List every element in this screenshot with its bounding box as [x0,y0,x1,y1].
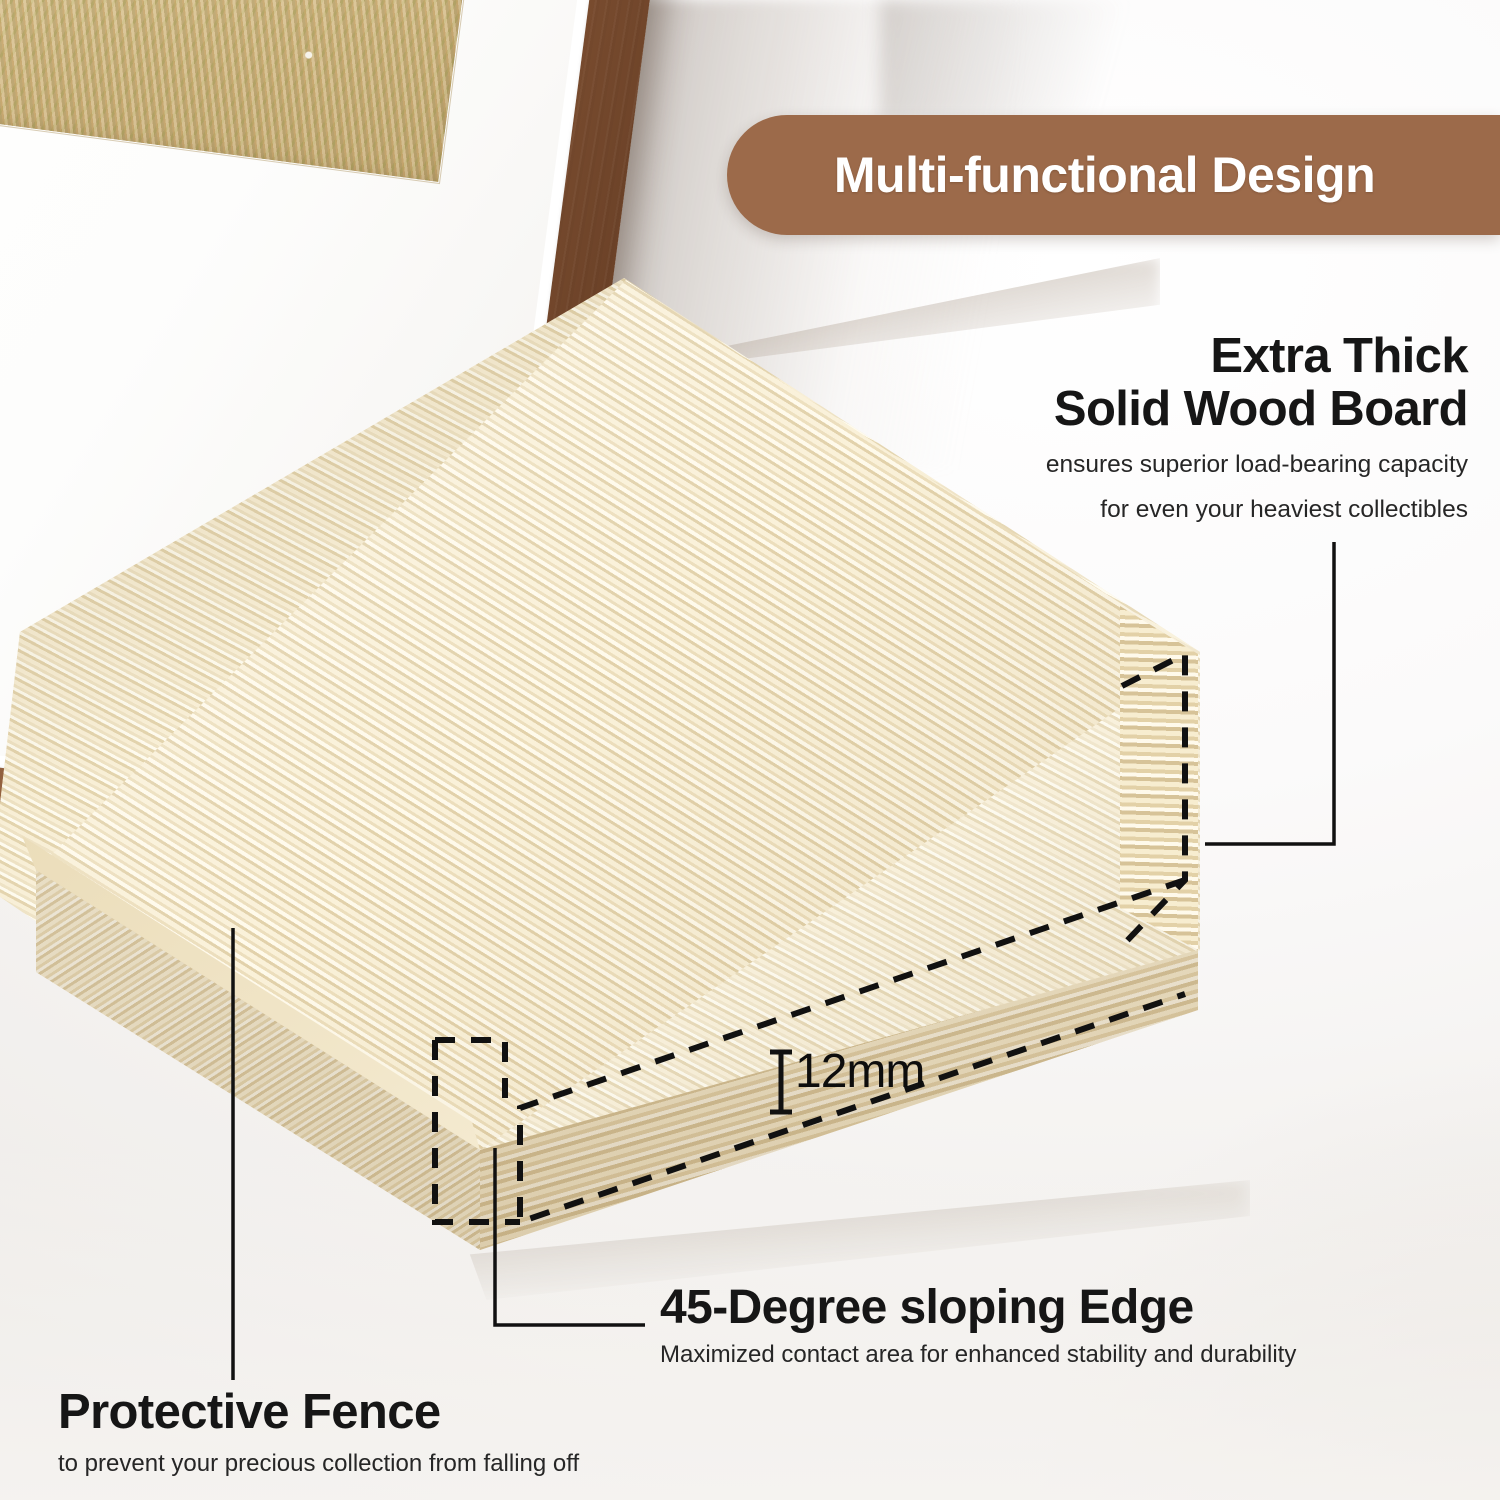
wall-shadow-top [880,0,1180,120]
callout-extra-thick-sub-line1: ensures superior load-bearing capacity [1046,450,1468,481]
dimension-label-12mm: 12mm [795,1044,924,1099]
callout-protective-fence-title: Protective Fence [58,1386,579,1439]
callout-extra-thick-sub-line2: for even your heaviest collectibles [1046,495,1468,526]
callout-protective-fence: Protective Fence to prevent your preciou… [58,1386,579,1479]
callout-protective-fence-sub: to prevent your precious collection from… [58,1449,579,1479]
banner-multi-functional-design: Multi-functional Design [727,115,1500,235]
product-infographic: 12mm Multi-functional Design Extra Thick… [0,0,1500,1500]
banner-label: Multi-functional Design [834,146,1375,204]
callout-sloping-edge-sub: Maximized contact area for enhanced stab… [660,1340,1296,1370]
callout-extra-thick-title-line1: Extra Thick [1046,330,1468,383]
callout-sloping-edge-title: 45-Degree sloping Edge [660,1282,1296,1334]
callout-extra-thick: Extra Thick Solid Wood Board ensures sup… [1046,330,1468,526]
callout-extra-thick-title-line2: Solid Wood Board [1046,383,1468,436]
callout-sloping-edge: 45-Degree sloping Edge Maximized contact… [660,1282,1296,1370]
